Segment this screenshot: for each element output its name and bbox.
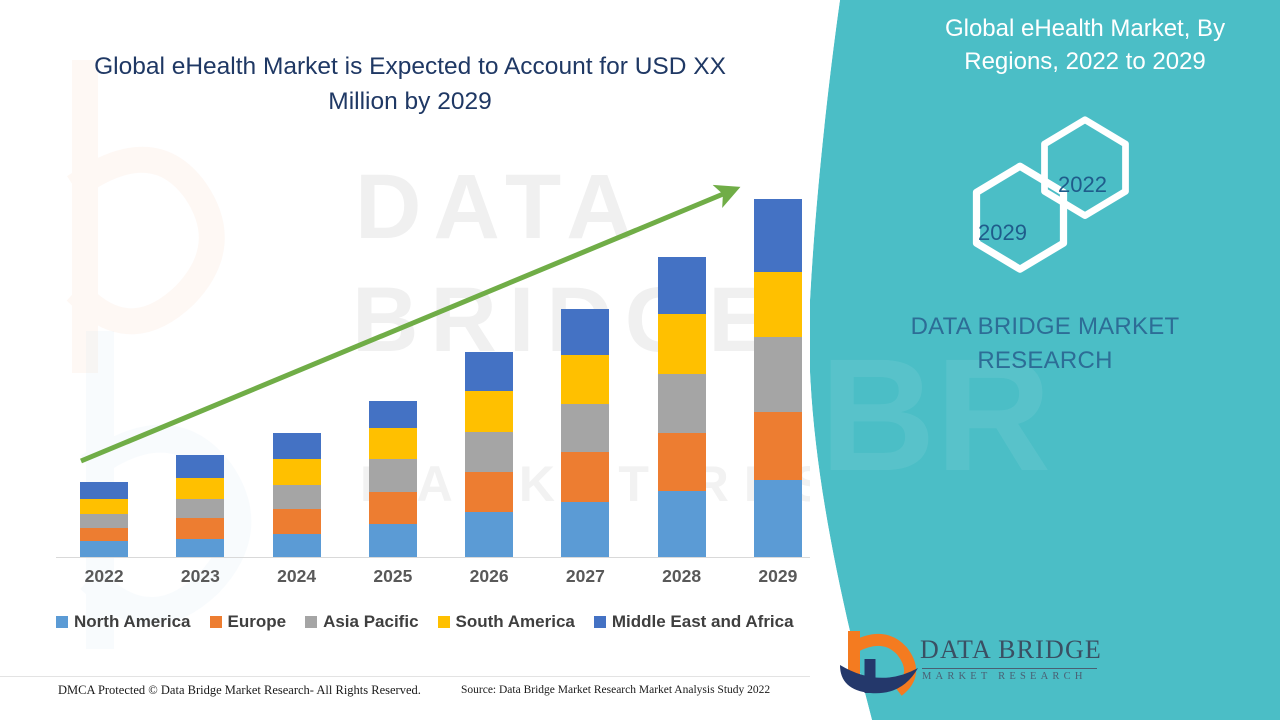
footer-copyright: DMCA Protected © Data Bridge Market Rese… (58, 683, 421, 698)
bar-group-2029[interactable] (754, 199, 802, 557)
chart-legend: North AmericaEuropeAsia PacificSouth Ame… (56, 612, 846, 632)
bar-segment[interactable] (658, 257, 706, 313)
bar-group-2027[interactable] (561, 309, 609, 557)
x-axis-label-2023: 2023 (152, 566, 248, 587)
bar-segment[interactable] (176, 478, 224, 498)
legend-item[interactable]: North America (56, 612, 191, 632)
footer-source: Source: Data Bridge Market Research Mark… (461, 684, 770, 696)
legend-label: Europe (228, 612, 287, 632)
x-axis-label-2026: 2026 (441, 566, 537, 587)
x-axis-labels: 20222023202420252026202720282029 (56, 566, 826, 592)
right-info-panel: BR Global eHealth Market, By Regions, 20… (810, 0, 1280, 720)
bar-group-2023[interactable] (176, 455, 224, 557)
bar-segment[interactable] (176, 499, 224, 518)
data-bridge-logo: DATA BRIDGE MARKET RESEARCH (832, 625, 1122, 697)
bar-segment[interactable] (754, 272, 802, 337)
bar-segment[interactable] (80, 499, 128, 515)
legend-label: South America (456, 612, 575, 632)
x-axis-label-2028: 2028 (634, 566, 730, 587)
x-axis-label-2022: 2022 (56, 566, 152, 587)
hexagon-2022 (1045, 120, 1126, 216)
legend-swatch-icon (56, 616, 68, 628)
bar-segment[interactable] (80, 528, 128, 541)
logo-divider (922, 668, 1097, 669)
bar-segment[interactable] (80, 541, 128, 557)
bar-segment[interactable] (561, 404, 609, 453)
legend-swatch-icon (210, 616, 222, 628)
bar-segment[interactable] (273, 534, 321, 557)
bar-segment[interactable] (658, 433, 706, 491)
bar-segment[interactable] (80, 482, 128, 498)
legend-item[interactable]: South America (438, 612, 575, 632)
bar-segment[interactable] (561, 502, 609, 557)
hexagon-2022-label: 2022 (1058, 172, 1107, 198)
bar-segment[interactable] (273, 433, 321, 459)
hexagon-badges (810, 0, 1280, 300)
bar-segment[interactable] (658, 491, 706, 557)
bar-segment[interactable] (754, 412, 802, 480)
chart-title: Global eHealth Market is Expected to Acc… (70, 50, 750, 120)
bar-segment[interactable] (561, 309, 609, 356)
legend-item[interactable]: Asia Pacific (305, 612, 418, 632)
x-axis-label-2024: 2024 (249, 566, 345, 587)
hexagon-2029 (977, 166, 1064, 269)
bar-segment[interactable] (369, 492, 417, 524)
bar-segment[interactable] (176, 455, 224, 478)
bar-segment[interactable] (658, 374, 706, 433)
hexagon-2029-label: 2029 (978, 220, 1027, 246)
bar-segment[interactable] (754, 199, 802, 272)
brand-name: DATA BRIDGE MARKET RESEARCH (870, 310, 1220, 378)
legend-label: Asia Pacific (323, 612, 418, 632)
bar-segment[interactable] (176, 518, 224, 538)
chart-panel: DATA BRIDGE MARKET RESEARCH Global eHeal… (0, 0, 900, 720)
legend-swatch-icon (438, 616, 450, 628)
x-axis-label-2025: 2025 (345, 566, 441, 587)
growth-trend-arrow (56, 170, 826, 558)
logo-wordmark: DATA BRIDGE (920, 635, 1102, 665)
legend-swatch-icon (594, 616, 606, 628)
bar-segment[interactable] (176, 539, 224, 557)
legend-label: North America (74, 612, 191, 632)
bar-segment[interactable] (465, 432, 513, 472)
legend-label: Middle East and Africa (612, 612, 794, 632)
legend-item[interactable]: Europe (210, 612, 287, 632)
legend-item[interactable]: Middle East and Africa (594, 612, 794, 632)
x-axis-label-2027: 2027 (537, 566, 633, 587)
logo-subtitle: MARKET RESEARCH (922, 671, 1087, 682)
bar-segment[interactable] (465, 512, 513, 557)
bar-segment[interactable] (465, 472, 513, 513)
plot-area (56, 170, 826, 558)
bar-segment[interactable] (561, 355, 609, 404)
bar-group-2024[interactable] (273, 433, 321, 557)
bar-segment[interactable] (273, 485, 321, 508)
bar-group-2022[interactable] (80, 482, 128, 557)
bar-segment[interactable] (754, 480, 802, 557)
bar-segment[interactable] (273, 509, 321, 534)
bar-segment[interactable] (754, 337, 802, 413)
bar-segment[interactable] (369, 459, 417, 492)
bar-segment[interactable] (369, 524, 417, 557)
footer-divider (0, 676, 845, 677)
bar-segment[interactable] (465, 352, 513, 391)
bar-group-2026[interactable] (465, 352, 513, 557)
bar-group-2028[interactable] (658, 257, 706, 557)
bar-segment[interactable] (561, 452, 609, 501)
bar-segment[interactable] (369, 428, 417, 459)
legend-swatch-icon (305, 616, 317, 628)
bar-segment[interactable] (465, 391, 513, 432)
bar-group-2025[interactable] (369, 401, 417, 557)
bar-segment[interactable] (658, 314, 706, 374)
bar-segment[interactable] (80, 514, 128, 528)
bar-segment[interactable] (369, 401, 417, 428)
bar-segment[interactable] (273, 459, 321, 485)
